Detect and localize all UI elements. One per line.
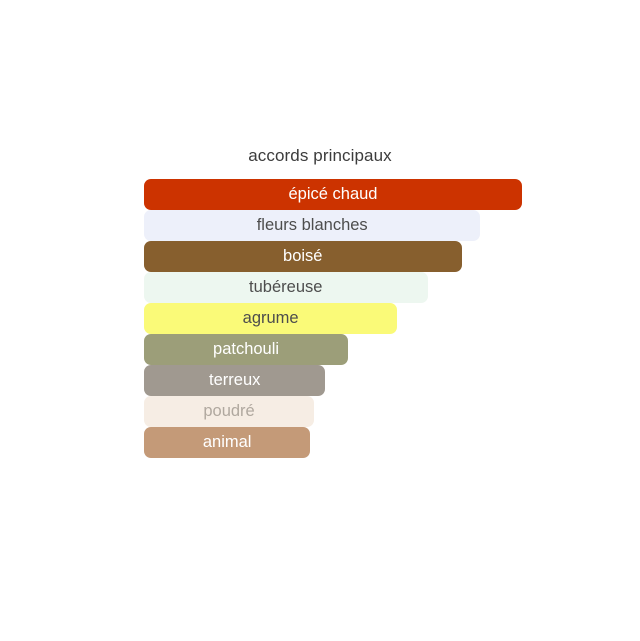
bar-label: boisé <box>277 248 328 265</box>
bar-5[interactable]: patchouli <box>144 334 348 365</box>
chart-title: accords principaux <box>0 146 640 166</box>
bar-row: terreux <box>144 365 564 396</box>
bar-label: patchouli <box>207 341 285 358</box>
bar-row: poudré <box>144 396 564 427</box>
bar-label: poudré <box>197 403 260 420</box>
bar-4[interactable]: agrume <box>144 303 397 334</box>
bar-row: animal <box>144 427 564 458</box>
bar-1[interactable]: fleurs blanches <box>144 210 480 241</box>
accords-chart: accords principaux épicé chaudfleurs bla… <box>0 0 640 641</box>
bar-row: patchouli <box>144 334 564 365</box>
bar-label: agrume <box>237 310 305 327</box>
bar-label: fleurs blanches <box>251 217 374 234</box>
bar-row: tubéreuse <box>144 272 564 303</box>
bar-row: fleurs blanches <box>144 210 564 241</box>
bar-label: épicé chaud <box>283 186 384 203</box>
bar-row: agrume <box>144 303 564 334</box>
bar-3[interactable]: tubéreuse <box>144 272 428 303</box>
bar-row: épicé chaud <box>144 179 564 210</box>
bar-6[interactable]: terreux <box>144 365 325 396</box>
bar-label: tubéreuse <box>243 279 328 296</box>
bar-row: boisé <box>144 241 564 272</box>
bar-2[interactable]: boisé <box>144 241 462 272</box>
bar-8[interactable]: animal <box>144 427 310 458</box>
bar-label: animal <box>197 434 258 451</box>
bar-7[interactable]: poudré <box>144 396 314 427</box>
bar-0[interactable]: épicé chaud <box>144 179 522 210</box>
bar-label: terreux <box>203 372 266 389</box>
bars-container: épicé chaudfleurs blanchesboisétubéreuse… <box>144 179 564 458</box>
